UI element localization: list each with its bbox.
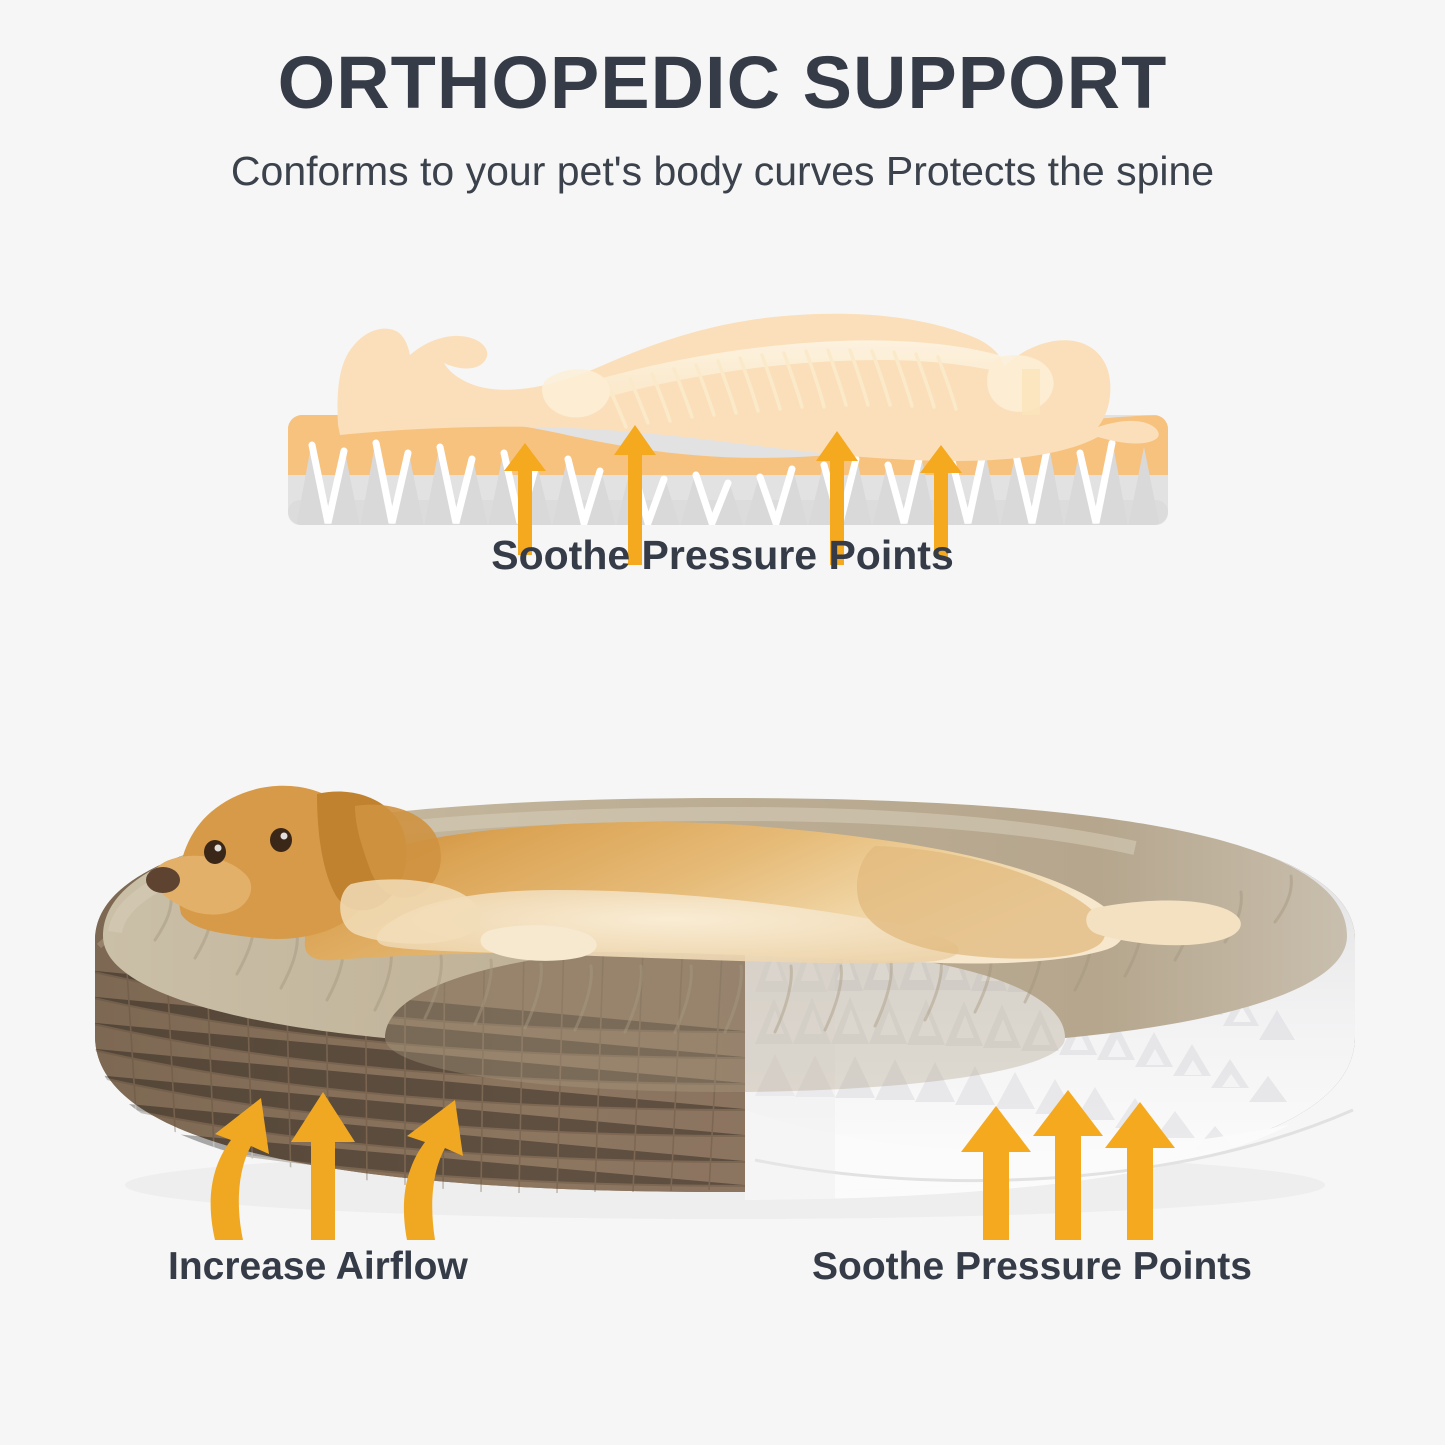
caption-increase-airflow: Increase Airflow <box>168 1245 468 1289</box>
dog-in-orthopedic-bed-cutaway <box>55 640 1395 1240</box>
diagram-caption: Soothe Pressure Points <box>0 532 1445 579</box>
page-subtitle: Conforms to your pet's body curves Prote… <box>0 148 1445 195</box>
page-title: ORTHOPEDIC SUPPORT <box>0 46 1445 120</box>
caption-soothe-pressure-points: Soothe Pressure Points <box>812 1245 1252 1289</box>
infographic-canvas: ORTHOPEDIC SUPPORT Conforms to your pet'… <box>0 0 1445 1445</box>
